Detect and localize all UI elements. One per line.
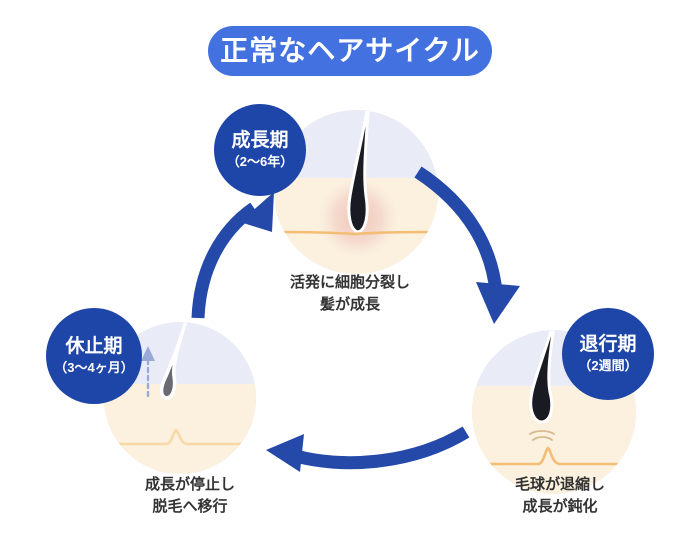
caption-telogen-line1: 成長が停止し [100, 474, 280, 496]
phase-duration-telogen: （3〜4ヶ月） [54, 361, 133, 376]
page-title: 正常なヘアサイクル [220, 37, 480, 65]
caption-catagen: 毛球が退縮し 成長が鈍化 [470, 474, 650, 518]
phase-badge-anagen[interactable]: 成長期 （2〜6年） [214, 104, 306, 196]
phase-name-telogen: 休止期 [65, 336, 122, 358]
caption-anagen-line1: 活発に細胞分裂し [258, 272, 442, 294]
phase-name-catagen: 退行期 [579, 334, 636, 356]
caption-catagen-line1: 毛球が退縮し [470, 474, 650, 496]
phase-name-anagen: 成長期 [231, 130, 288, 152]
arrow-catagen-to-telogen [266, 432, 466, 472]
phase-duration-catagen: （2週間） [578, 359, 637, 374]
phase-duration-anagen: （2〜6年） [227, 155, 293, 170]
caption-anagen-line2: 髪が成長 [258, 294, 442, 316]
caption-catagen-line2: 成長が鈍化 [470, 496, 650, 518]
skin-layer [104, 384, 256, 474]
caption-anagen: 活発に細胞分裂し 髪が成長 [258, 272, 442, 316]
caption-telogen: 成長が停止し 脱毛へ移行 [100, 474, 280, 518]
page-title-pill: 正常なヘアサイクル [208, 26, 492, 76]
phase-badge-telogen[interactable]: 休止期 （3〜4ヶ月） [46, 308, 142, 404]
caption-telogen-line2: 脱毛へ移行 [100, 496, 280, 518]
phase-badge-catagen[interactable]: 退行期 （2週間） [562, 308, 654, 400]
